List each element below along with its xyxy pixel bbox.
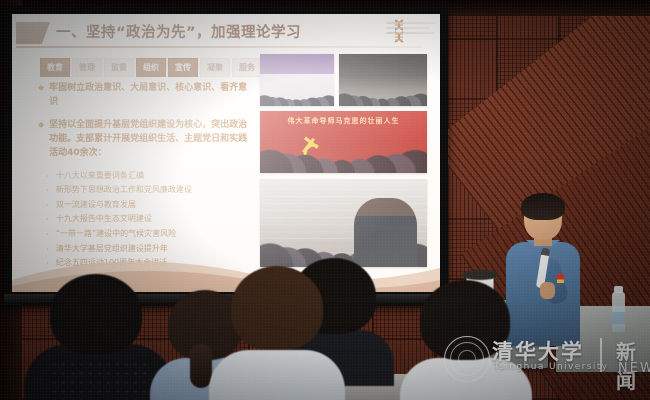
lecture-hall-photo: 一、坚持“政治为先”，加强理论学习: [0, 0, 650, 400]
photo-vignette: [0, 0, 650, 400]
